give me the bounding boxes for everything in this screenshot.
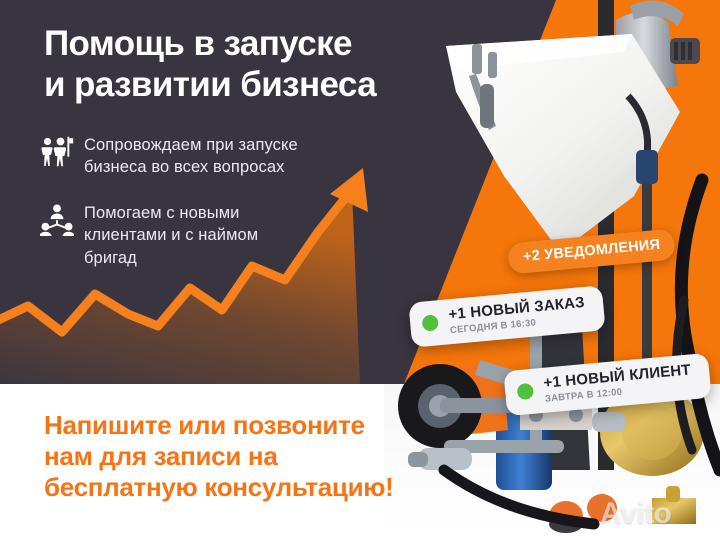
feature-list: Сопровождаем при запуске бизнеса во всех… — [40, 133, 370, 291]
list-item-text: Помогаем с новыми клиентами и с наймом б… — [84, 201, 258, 269]
avito-listing-banner: Помощь в запуске и развитии бизнеса — [0, 0, 720, 536]
bullet-1-line-1: Помогаем с новыми — [84, 204, 240, 222]
bullet-1-line-3: бригад — [84, 249, 137, 267]
cta-line-2: нам для записи на — [44, 441, 474, 472]
list-item: Помогаем с новыми клиентами и с наймом б… — [40, 201, 370, 269]
team-with-flag-icon — [40, 133, 84, 175]
notification-card-body: +1 НОВЫЙ ЗАКАЗ СЕГОДНЯ В 16:30 — [448, 294, 587, 337]
bullet-0-line-2: бизнеса во всех вопросах — [84, 158, 284, 176]
status-dot-green-icon — [422, 314, 439, 331]
bullet-1-line-2: клиентами и с наймом — [84, 226, 258, 244]
cta-line-3: бесплатную консультацию! — [44, 472, 474, 503]
call-to-action-text: Напишите или позвоните нам для записи на… — [44, 410, 474, 504]
cta-line-1: Напишите или позвоните — [44, 410, 474, 441]
org-chart-people-icon — [40, 201, 84, 243]
list-item-text: Сопровождаем при запуске бизнеса во всех… — [84, 133, 298, 179]
status-dot-green-icon — [517, 383, 534, 400]
headline-line-1: Помощь в запуске — [44, 24, 352, 63]
list-item: Сопровождаем при запуске бизнеса во всех… — [40, 133, 370, 179]
notification-card-body: +1 НОВЫЙ КЛИЕНТ ЗАВТРА В 12:00 — [543, 361, 693, 405]
bullet-0-line-1: Сопровождаем при запуске — [84, 136, 298, 154]
